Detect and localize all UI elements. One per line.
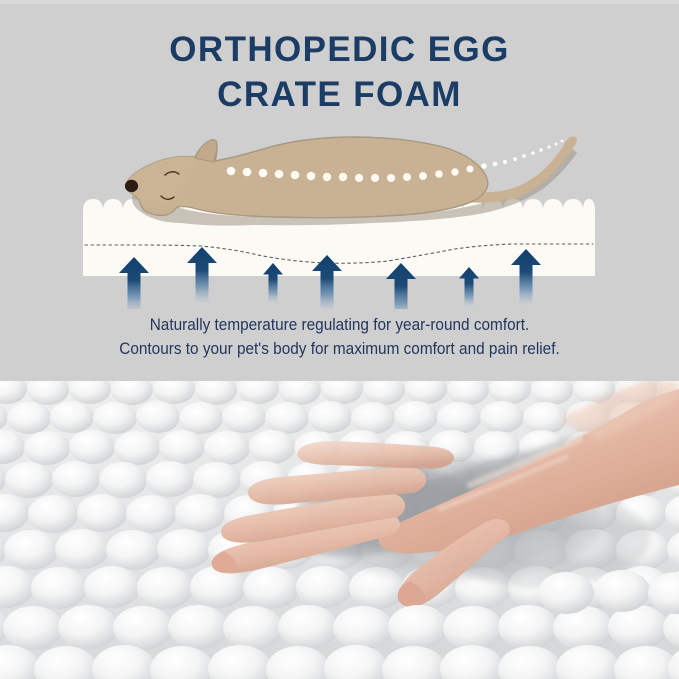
arrow-1 <box>119 257 149 309</box>
title-line-2: CRATE FOAM <box>0 72 679 117</box>
product-infographic-image: ORTHOPEDIC EGG CRATE FOAM <box>0 0 679 679</box>
hand-pressing-egg-crate-foam-photo <box>0 381 679 679</box>
illustration-panel: ORTHOPEDIC EGG CRATE FOAM <box>0 0 679 381</box>
arrow-7 <box>511 249 541 305</box>
page-title: ORTHOPEDIC EGG CRATE FOAM <box>0 27 679 117</box>
arrow-2 <box>187 247 217 303</box>
arrow-4 <box>312 255 342 309</box>
benefit-line-1: Naturally temperature regulating for yea… <box>24 313 655 337</box>
benefit-line-2: Contours to your pet's body for maximum … <box>24 337 655 361</box>
top-edge-hairline <box>0 0 679 4</box>
upward-support-arrows-group <box>83 243 595 309</box>
dog-nose <box>125 180 138 192</box>
arrow-5 <box>386 263 416 309</box>
dog-ear <box>195 140 217 162</box>
arrow-6 <box>459 267 479 307</box>
title-line-1: ORTHOPEDIC EGG <box>0 27 679 72</box>
arrow-3 <box>263 263 283 303</box>
benefits-text: Naturally temperature regulating for yea… <box>0 313 679 361</box>
sleeping-dog-illustration <box>103 131 583 236</box>
